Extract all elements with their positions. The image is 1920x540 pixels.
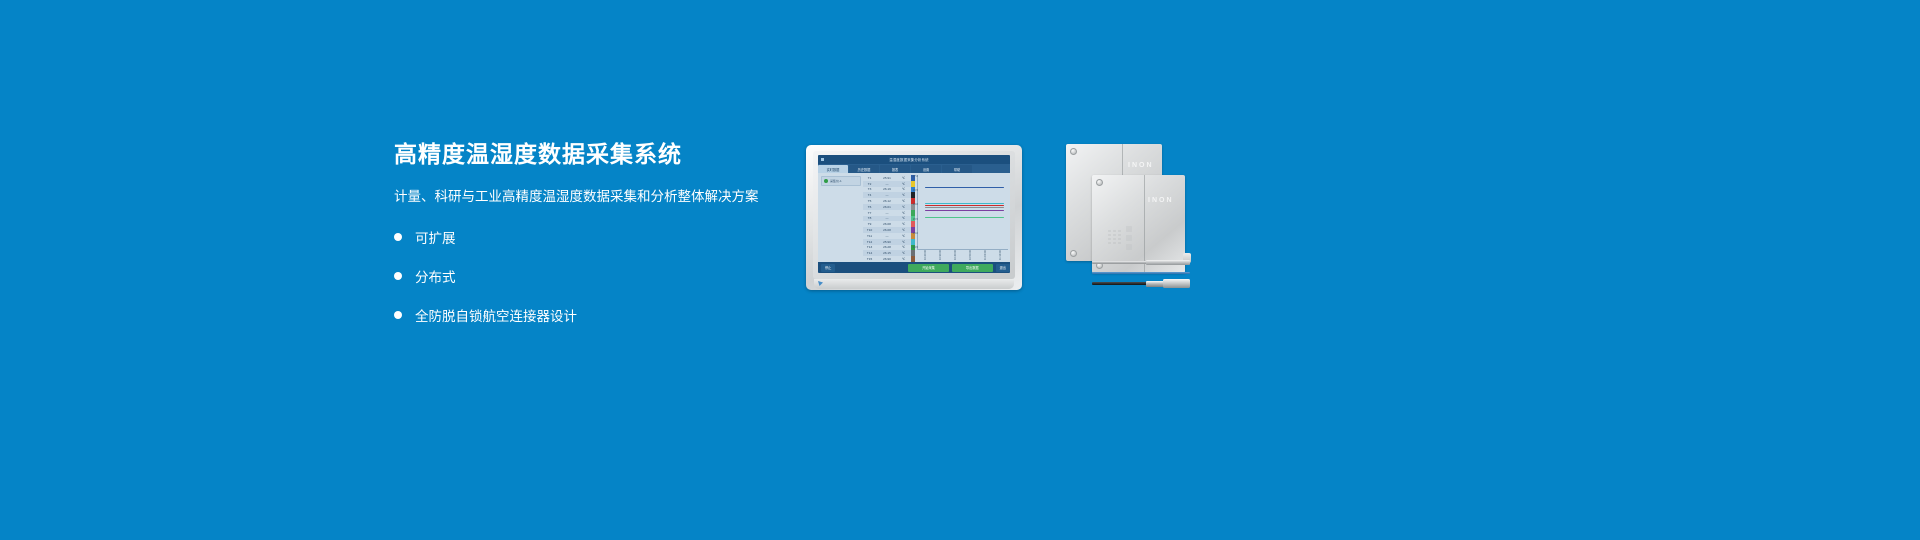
channel-unit: ℃ bbox=[898, 182, 909, 186]
channel-value: 25.90 bbox=[876, 240, 898, 244]
probe-cable bbox=[1092, 282, 1148, 285]
monitor-inner-bezel: 温湿度数据采集分析系统 实时数据 历史数据 报表 设置 帮助 bbox=[813, 151, 1015, 279]
page-subtitle: 计量、科研与工业高精度温湿度数据采集和分析整体解决方案 bbox=[394, 189, 824, 205]
hero-banner: 高精度温湿度数据采集系统 计量、科研与工业高精度温湿度数据采集和分析整体解决方案… bbox=[0, 0, 1920, 540]
software-title-bar: 温湿度数据采集分析系统 bbox=[818, 155, 1010, 164]
chart-x-axis-labels: 10:20:0010:30:0010:40:0010:50:0011:00:00… bbox=[918, 249, 1008, 260]
channel-name: T5 bbox=[863, 199, 876, 203]
channel-name: T1 bbox=[863, 176, 876, 180]
feature-item-2: 分布式 bbox=[394, 266, 824, 286]
tab-help[interactable]: 帮助 bbox=[942, 165, 972, 173]
software-body: 采集仪-1 T125.91℃T2---℃T326.19℃T4---℃T526.1… bbox=[818, 173, 1010, 262]
status-indicator-icon bbox=[824, 179, 828, 183]
exit-button[interactable]: 退出 bbox=[996, 264, 1010, 272]
enclosure-brand-label: INON bbox=[1148, 197, 1174, 204]
software-window-title: 温湿度数据采集分析系统 bbox=[818, 157, 1002, 162]
x-tick-label: 11:10:00 bbox=[999, 249, 1002, 260]
channel-value: 26.19 bbox=[876, 187, 898, 191]
channel-name: T7 bbox=[863, 211, 876, 215]
channel-value: 25.91 bbox=[876, 176, 898, 180]
channel-unit: ℃ bbox=[898, 240, 909, 244]
channel-unit: ℃ bbox=[898, 245, 909, 249]
channel-unit: ℃ bbox=[898, 211, 909, 215]
channel-name: T6 bbox=[863, 205, 876, 209]
chart-series-line bbox=[925, 203, 1004, 204]
x-tick-label: 10:30:00 bbox=[939, 249, 942, 260]
channel-value: 26.90 bbox=[876, 257, 898, 261]
channel-name: T12 bbox=[863, 240, 876, 244]
channel-name: T4 bbox=[863, 193, 876, 197]
hero-copy-block: 高精度温湿度数据采集系统 计量、科研与工业高精度温湿度数据采集和分析整体解决方案… bbox=[394, 142, 824, 344]
temperature-probe-cable-blue bbox=[1092, 271, 1190, 275]
channel-name: T13 bbox=[863, 245, 876, 249]
monitor-base bbox=[814, 279, 1014, 289]
monitor-outer-bezel: 温湿度数据采集分析系统 实时数据 历史数据 报表 设置 帮助 bbox=[806, 145, 1022, 290]
screw-icon bbox=[1070, 148, 1077, 155]
channel-name: T3 bbox=[863, 187, 876, 191]
chart-series-line bbox=[925, 210, 1004, 211]
y-tick-label: 26.0 bbox=[909, 203, 918, 206]
channel-table: T125.91℃T2---℃T326.19℃T4---℃T526.12℃T626… bbox=[863, 175, 911, 268]
y-tick-label: 25.5 bbox=[909, 218, 918, 221]
chart-y-axis-labels: 27.026.526.025.525.024.5 bbox=[909, 175, 918, 249]
y-tick-label: 27.0 bbox=[909, 175, 918, 178]
probe-cable bbox=[1092, 272, 1190, 274]
feature-label: 可扩展 bbox=[415, 227, 456, 247]
feature-item-3: 全防脱自锁航空连接器设计 bbox=[394, 305, 824, 325]
channel-unit: ℃ bbox=[898, 205, 909, 209]
channel-unit: ℃ bbox=[898, 257, 909, 261]
tab-report[interactable]: 报表 bbox=[880, 165, 910, 173]
channel-unit: ℃ bbox=[898, 251, 909, 255]
feature-label: 分布式 bbox=[415, 266, 456, 286]
channel-name: T11 bbox=[863, 234, 876, 238]
channel-name: T10 bbox=[863, 228, 876, 232]
channel-value: --- bbox=[876, 182, 898, 186]
bullet-dot-icon bbox=[394, 233, 402, 241]
channel-value: --- bbox=[876, 234, 898, 238]
channel-name: T8 bbox=[863, 216, 876, 220]
probe-sleeve bbox=[1146, 260, 1190, 265]
software-footer-toolbar: 停止 开始采集 导出数据 退出 bbox=[818, 262, 1010, 273]
channel-unit: ℃ bbox=[898, 216, 909, 220]
tab-realtime-data[interactable]: 实时数据 bbox=[818, 165, 848, 173]
start-acquisition-button[interactable]: 开始采集 bbox=[908, 264, 949, 272]
channel-value: 26.15 bbox=[876, 251, 898, 255]
trend-chart: 27.026.526.025.525.024.5 10:20:0010:30:0… bbox=[917, 175, 1008, 250]
chart-series-line bbox=[925, 187, 1004, 188]
channel-value: --- bbox=[876, 211, 898, 215]
x-tick-label: 11:00:00 bbox=[984, 249, 987, 260]
bullet-dot-icon bbox=[394, 311, 402, 319]
channel-unit: ℃ bbox=[898, 228, 909, 232]
channel-name: T9 bbox=[863, 222, 876, 226]
x-tick-label: 10:20:00 bbox=[924, 249, 927, 260]
x-tick-label: 10:40:00 bbox=[954, 249, 957, 260]
channel-value: 26.08 bbox=[876, 222, 898, 226]
y-tick-label: 26.5 bbox=[909, 189, 918, 192]
channel-value: 26.12 bbox=[876, 199, 898, 203]
keypad-embossing bbox=[1108, 230, 1138, 260]
probe-rod bbox=[1092, 261, 1148, 264]
page-title: 高精度温湿度数据采集系统 bbox=[394, 142, 824, 167]
tab-history-data[interactable]: 历史数据 bbox=[849, 165, 879, 173]
x-tick-label: 10:50:00 bbox=[969, 249, 972, 260]
aviation-connector bbox=[1146, 281, 1164, 287]
channel-value: 26.08 bbox=[876, 228, 898, 232]
screw-icon bbox=[1070, 250, 1077, 257]
tab-settings[interactable]: 设置 bbox=[911, 165, 941, 173]
channel-unit: ℃ bbox=[898, 187, 909, 191]
temperature-probe-connector bbox=[1092, 279, 1190, 288]
monitor-screen: 温湿度数据采集分析系统 实时数据 历史数据 报表 设置 帮助 bbox=[818, 155, 1010, 273]
channel-value: 26.01 bbox=[876, 205, 898, 209]
enclosure-brand-label: INON bbox=[1128, 162, 1154, 169]
channel-value: --- bbox=[876, 216, 898, 220]
monitor-product-image: 温湿度数据采集分析系统 实时数据 历史数据 报表 设置 帮助 bbox=[806, 145, 1022, 295]
channel-name: T15 bbox=[863, 257, 876, 261]
software-tab-bar: 实时数据 历史数据 报表 设置 帮助 bbox=[818, 164, 1010, 173]
export-data-button[interactable]: 导出数据 bbox=[952, 264, 993, 272]
chart-series-line bbox=[925, 205, 1004, 206]
temperature-probe-rigid bbox=[1092, 259, 1190, 265]
y-tick-label: 24.5 bbox=[909, 246, 918, 249]
stop-button[interactable]: 停止 bbox=[821, 264, 835, 272]
bullet-dot-icon bbox=[394, 272, 402, 280]
device-selector[interactable]: 采集仪-1 bbox=[821, 176, 861, 186]
channel-value: 26.28 bbox=[876, 245, 898, 249]
channel-unit: ℃ bbox=[898, 234, 909, 238]
channel-unit: ℃ bbox=[898, 199, 909, 203]
feature-label: 全防脱自锁航空连接器设计 bbox=[415, 305, 577, 325]
channel-unit: ℃ bbox=[898, 222, 909, 226]
channel-name: T2 bbox=[863, 182, 876, 186]
channel-value: --- bbox=[876, 193, 898, 197]
channel-unit: ℃ bbox=[898, 193, 909, 197]
probe-body bbox=[1163, 279, 1190, 288]
chart-series-line bbox=[925, 207, 1004, 208]
chart-series-line bbox=[925, 217, 1004, 218]
feature-item-1: 可扩展 bbox=[394, 227, 824, 247]
screw-icon bbox=[1096, 179, 1103, 186]
y-tick-label: 25.0 bbox=[909, 232, 918, 235]
device-label: 采集仪-1 bbox=[830, 179, 842, 183]
channel-unit: ℃ bbox=[898, 176, 909, 180]
channel-name: T14 bbox=[863, 251, 876, 255]
